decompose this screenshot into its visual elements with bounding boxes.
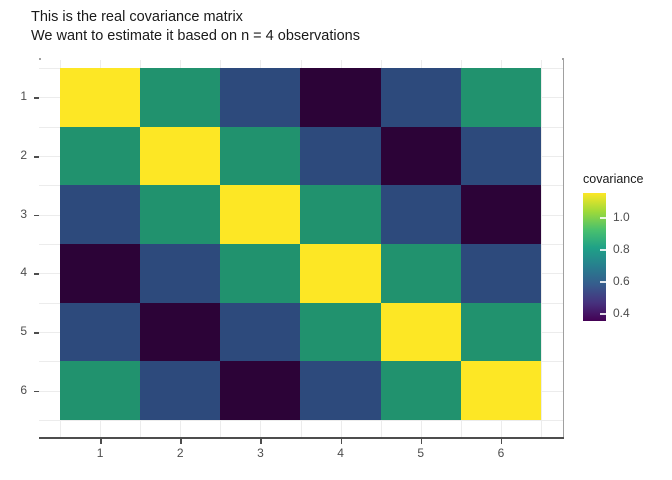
legend: covariance 1.00.80.60.4 bbox=[583, 172, 643, 321]
heatmap-cell bbox=[220, 361, 300, 420]
heatmap-cell bbox=[381, 185, 461, 244]
y-tick-mark bbox=[34, 332, 39, 334]
heatmap-cell bbox=[220, 303, 300, 362]
x-tick-mark bbox=[501, 439, 503, 444]
x-tick-label: 6 bbox=[491, 446, 511, 460]
heatmap-cell bbox=[300, 68, 380, 127]
heatmap-cell bbox=[60, 127, 140, 186]
legend-tick-label: 0.8 bbox=[613, 242, 630, 256]
y-tick-mark bbox=[34, 391, 39, 393]
heatmap-cell bbox=[140, 244, 220, 303]
heatmap-cell bbox=[140, 127, 220, 186]
legend-tick-label: 0.4 bbox=[613, 306, 630, 320]
x-tick-mark bbox=[260, 439, 262, 444]
heatmap-panel bbox=[39, 60, 563, 437]
heatmap-cell bbox=[461, 303, 541, 362]
heatmap-cell bbox=[300, 244, 380, 303]
legend-tick-mark-outer bbox=[606, 281, 610, 283]
chart-title-block: This is the real covariance matrix We wa… bbox=[31, 8, 551, 46]
legend-tick-label: 0.6 bbox=[613, 274, 630, 288]
heatmap-cell bbox=[381, 244, 461, 303]
y-tick-label: 1 bbox=[7, 89, 27, 103]
gridline-vertical-minor bbox=[541, 60, 542, 437]
heatmap-cell bbox=[220, 68, 300, 127]
y-tick-label: 2 bbox=[7, 148, 27, 162]
chart-title-line-1: This is the real covariance matrix bbox=[31, 8, 551, 27]
x-axis-line bbox=[39, 437, 564, 439]
heatmap-cell bbox=[461, 185, 541, 244]
legend-colorbar bbox=[583, 193, 606, 321]
heatmap-cell bbox=[300, 361, 380, 420]
legend-tick-mark-outer bbox=[606, 313, 610, 315]
y-tick-mark bbox=[34, 215, 39, 217]
heatmap-cell bbox=[461, 361, 541, 420]
heatmap-cell bbox=[60, 185, 140, 244]
legend-tick-mark-outer bbox=[606, 249, 610, 251]
heatmap-cell bbox=[381, 68, 461, 127]
x-tick-mark bbox=[100, 439, 102, 444]
heatmap-cell bbox=[60, 361, 140, 420]
y-tick-label: 5 bbox=[7, 324, 27, 338]
chart-title-line-2: We want to estimate it based on n = 4 ob… bbox=[31, 27, 551, 46]
heatmap-cell bbox=[140, 185, 220, 244]
heatmap-cell bbox=[140, 68, 220, 127]
y-tick-mark bbox=[34, 273, 39, 275]
x-tick-mark bbox=[180, 439, 182, 444]
heatmap-cell bbox=[140, 303, 220, 362]
heatmap-cell bbox=[60, 303, 140, 362]
heatmap-cell bbox=[461, 127, 541, 186]
x-tick-mark bbox=[421, 439, 423, 444]
heatmap-cell bbox=[300, 185, 380, 244]
y-tick-label: 3 bbox=[7, 207, 27, 221]
heatmap-cell bbox=[381, 361, 461, 420]
x-tick-mark bbox=[341, 439, 343, 444]
x-tick-label: 3 bbox=[250, 446, 270, 460]
heatmap-cell bbox=[60, 68, 140, 127]
y-tick-label: 6 bbox=[7, 383, 27, 397]
heatmap-cell bbox=[381, 303, 461, 362]
heatmap-cell bbox=[220, 244, 300, 303]
x-tick-label: 2 bbox=[170, 446, 190, 460]
heatmap-cell bbox=[381, 127, 461, 186]
legend-title: covariance bbox=[583, 172, 643, 186]
x-tick-label: 1 bbox=[90, 446, 110, 460]
heatmap-cell bbox=[461, 244, 541, 303]
heatmap-cell bbox=[220, 185, 300, 244]
heatmap-grid bbox=[60, 68, 541, 420]
x-tick-label: 4 bbox=[331, 446, 351, 460]
heatmap-cell bbox=[300, 127, 380, 186]
y-tick-label: 4 bbox=[7, 265, 27, 279]
heatmap-cell bbox=[60, 244, 140, 303]
heatmap-cell bbox=[220, 127, 300, 186]
heatmap-cell bbox=[461, 68, 541, 127]
y-tick-mark bbox=[34, 156, 39, 158]
y-tick-mark bbox=[34, 97, 39, 99]
legend-tick-mark-outer bbox=[606, 217, 610, 219]
legend-colorbar-wrap: 1.00.80.60.4 bbox=[583, 193, 606, 321]
heatmap-cell bbox=[300, 303, 380, 362]
heatmap-cell bbox=[140, 361, 220, 420]
legend-tick-label: 1.0 bbox=[613, 210, 630, 224]
x-tick-label: 5 bbox=[411, 446, 431, 460]
